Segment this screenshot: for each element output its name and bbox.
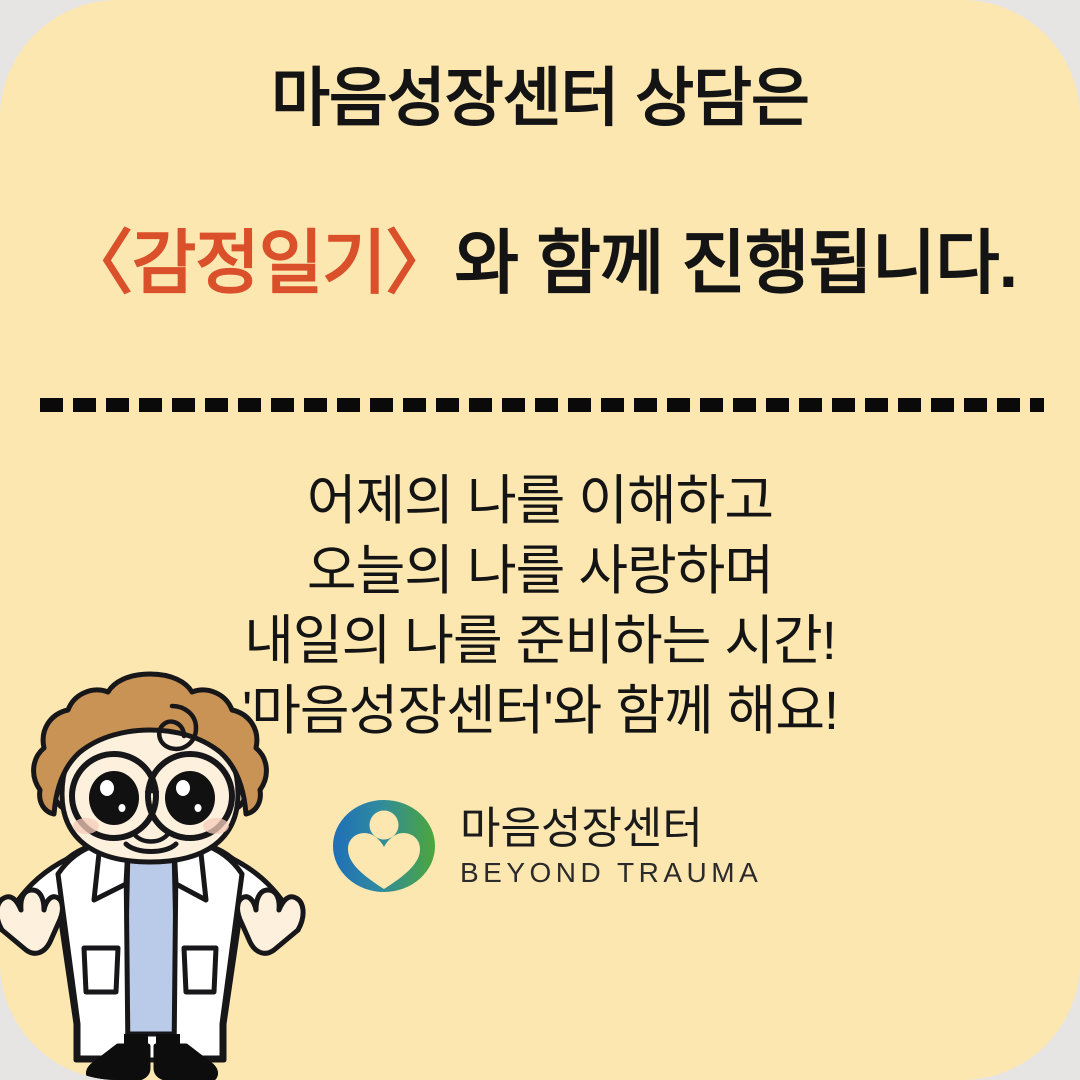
coat-pocket-right	[184, 948, 216, 992]
glasses-bridge	[148, 788, 156, 793]
eye-sparkle-right	[195, 804, 202, 812]
dashed-divider	[40, 398, 1044, 412]
cheek-right	[203, 818, 229, 834]
eye-highlight-left	[100, 780, 114, 796]
poster-card: 마음성장센터 상담은 〈감정일기〉와 함께 진행됩니다. 어제의 나를 이해하고…	[0, 0, 1080, 1080]
cheek-left	[73, 818, 99, 834]
heart-person-logo-icon	[332, 797, 436, 895]
headline-accent-text: 〈감정일기〉	[63, 224, 455, 302]
body-line: 오늘의 나를 사랑하며	[0, 536, 1080, 606]
headline-line-1: 마음성장센터 상담은	[0, 66, 1080, 130]
logo-wordmark: 마음성장센터 BEYOND TRAUMA	[460, 803, 762, 889]
headline-rest-text: 와 함께 진행됩니다.	[455, 224, 1018, 302]
doctor-mascot-illustration	[0, 648, 318, 1080]
eye-left	[89, 771, 139, 825]
eye-sparkle-left	[119, 804, 126, 812]
coat-pocket-left	[84, 948, 118, 992]
hand-left	[0, 890, 63, 953]
eye-highlight-right	[176, 780, 190, 796]
eye-right	[165, 771, 215, 825]
poster-canvas: 마음성장센터 상담은 〈감정일기〉와 함께 진행됩니다. 어제의 나를 이해하고…	[0, 0, 1080, 1080]
logo-lockup: 마음성장센터 BEYOND TRAUMA	[332, 794, 762, 898]
logo-english-name: BEYOND TRAUMA	[460, 857, 762, 889]
headline-line-2: 〈감정일기〉와 함께 진행됩니다.	[0, 228, 1080, 298]
logo-korean-name: 마음성장센터	[460, 805, 762, 853]
body-line: 어제의 나를 이해하고	[0, 466, 1080, 536]
hand-right	[238, 890, 304, 953]
inner-shirt	[124, 846, 178, 1034]
